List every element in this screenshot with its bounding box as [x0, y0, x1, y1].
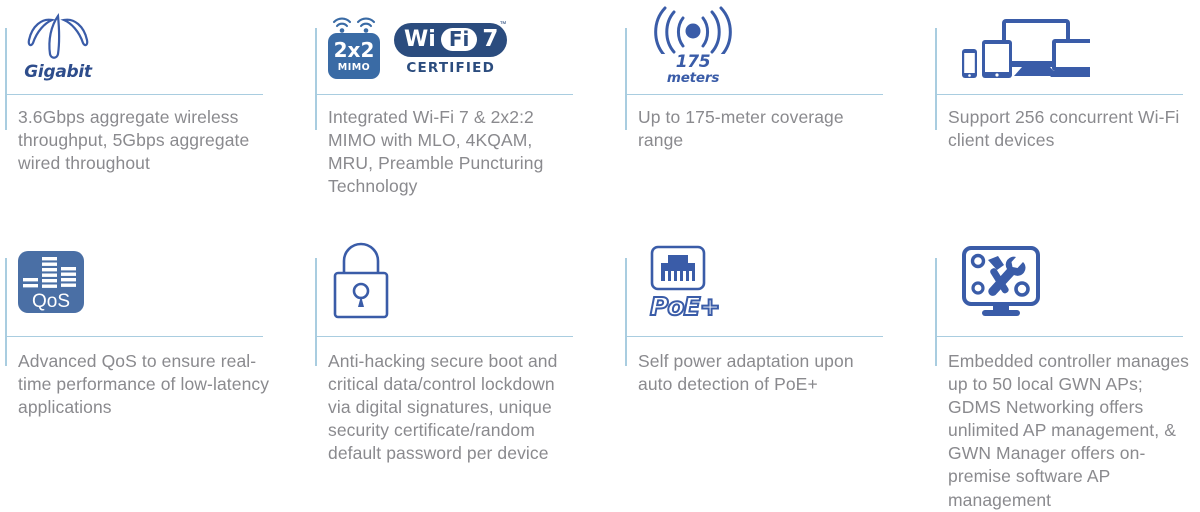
card-horizontal-divider — [5, 336, 263, 337]
padlock-icon — [328, 241, 394, 323]
card-horizontal-divider — [625, 336, 883, 337]
coverage-range-icon — [650, 6, 736, 54]
coverage-range-value: 175 — [676, 54, 711, 71]
card-vertical-accent — [935, 258, 937, 366]
card-vertical-accent — [5, 28, 7, 130]
card-horizontal-divider — [935, 94, 1183, 95]
feature-description: Up to 175-meter coverage range — [638, 106, 890, 152]
rj45-port-icon — [650, 245, 706, 293]
card-horizontal-divider — [935, 336, 1183, 337]
wifi7-icon-area: 2x2 MIMO Wi Fi 7 ™ CERTIFIED — [328, 0, 507, 92]
card-vertical-accent — [315, 28, 317, 130]
mimo-value: 2x2 — [334, 40, 375, 60]
qos-icon-caption: QoS — [32, 292, 70, 311]
feature-description: Integrated Wi-Fi 7 & 2x2:2 MIMO with MLO… — [328, 106, 580, 198]
feature-description: Advanced QoS to ensure real-time perform… — [18, 350, 270, 419]
card-vertical-accent — [935, 28, 937, 130]
mimo-label: MIMO — [338, 62, 371, 73]
poe-icon-caption: PoE+ — [650, 294, 720, 319]
gigabit-icon — [18, 10, 98, 62]
feature-grid: Gigabit 3.6Gbps aggregate wireless throu… — [0, 0, 1200, 501]
controller-icon-area — [960, 230, 1042, 334]
gigabit-icon-area: Gigabit — [18, 0, 98, 92]
feature-card-qos: QoS Advanced QoS to ensure real-time per… — [0, 230, 310, 501]
dual-antenna-icon — [328, 13, 380, 33]
wifi-certified-text: CERTIFIED — [406, 60, 495, 76]
embedded-controller-icon — [960, 244, 1042, 320]
card-vertical-accent — [625, 28, 627, 130]
feature-description: 3.6Gbps aggregate wireless throughput, 5… — [18, 106, 270, 175]
feature-card-clients: Support 256 concurrent Wi-Fi client devi… — [930, 0, 1200, 230]
wifi-fi-text: Fi — [441, 28, 478, 51]
card-horizontal-divider — [5, 94, 263, 95]
qos-icon-area: QoS — [18, 230, 84, 334]
feature-card-poe: PoE+ Self power adaptation upon auto det… — [620, 230, 930, 501]
mimo-badge-group: 2x2 MIMO — [328, 13, 380, 79]
feature-card-gigabit: Gigabit 3.6Gbps aggregate wireless throu… — [0, 0, 310, 230]
feature-card-controller: Embedded controller manages up to 50 loc… — [930, 230, 1200, 501]
card-vertical-accent — [625, 258, 627, 366]
feature-description: Support 256 concurrent Wi-Fi client devi… — [948, 106, 1198, 152]
security-icon-area — [328, 230, 394, 334]
trademark-icon: ™ — [499, 21, 506, 28]
feature-description: Embedded controller manages up to 50 loc… — [948, 350, 1198, 512]
feature-description: Anti-hacking secure boot and critical da… — [328, 350, 580, 465]
wifi-certified-logo: Wi Fi 7 ™ CERTIFIED — [394, 23, 507, 76]
feature-description: Self power adaptation upon auto detectio… — [638, 350, 890, 396]
card-horizontal-divider — [315, 336, 573, 337]
mimo-badge: 2x2 MIMO — [328, 33, 380, 79]
card-horizontal-divider — [625, 94, 883, 95]
card-vertical-accent — [5, 258, 7, 366]
coverage-icon-area: 175 meters — [650, 0, 736, 92]
devices-icon-area — [960, 0, 1090, 92]
wifi-wi-text: Wi — [404, 29, 436, 51]
coverage-range-unit: meters — [667, 71, 719, 85]
feature-card-security: Anti-hacking secure boot and critical da… — [310, 230, 620, 501]
card-horizontal-divider — [315, 94, 573, 95]
gigabit-icon-caption: Gigabit — [24, 62, 91, 82]
equalizer-icon — [22, 256, 80, 292]
client-devices-icon — [960, 11, 1090, 81]
card-vertical-accent — [315, 258, 317, 366]
poe-icon-area: PoE+ — [650, 230, 720, 334]
wifi-generation-text: 7 — [482, 28, 498, 51]
wifi-logo-pill: Wi Fi 7 ™ — [394, 23, 507, 57]
feature-card-coverage: 175 meters Up to 175-meter coverage rang… — [620, 0, 930, 230]
feature-card-wifi7: 2x2 MIMO Wi Fi 7 ™ CERTIFIED Integrated … — [310, 0, 620, 230]
qos-icon: QoS — [18, 251, 84, 313]
